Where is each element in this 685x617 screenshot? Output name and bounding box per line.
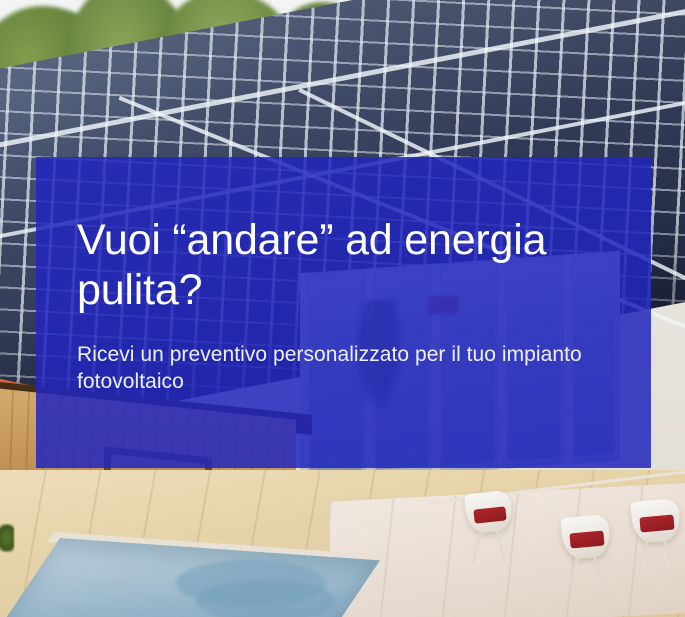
small-plant — [0, 524, 14, 552]
hero-subheadline: Ricevi un preventivo personalizzato per … — [77, 341, 622, 395]
hero-text-overlay: Vuoi “andare” ad energia pulita? Ricevi … — [36, 157, 651, 468]
hero-text-block: Vuoi “andare” ad energia pulita? Ricevi … — [77, 215, 622, 395]
pool-step — [196, 580, 336, 617]
hero-headline: Vuoi “andare” ad energia pulita? — [77, 215, 622, 315]
hero-banner: Vuoi “andare” ad energia pulita? Ricevi … — [0, 0, 685, 617]
